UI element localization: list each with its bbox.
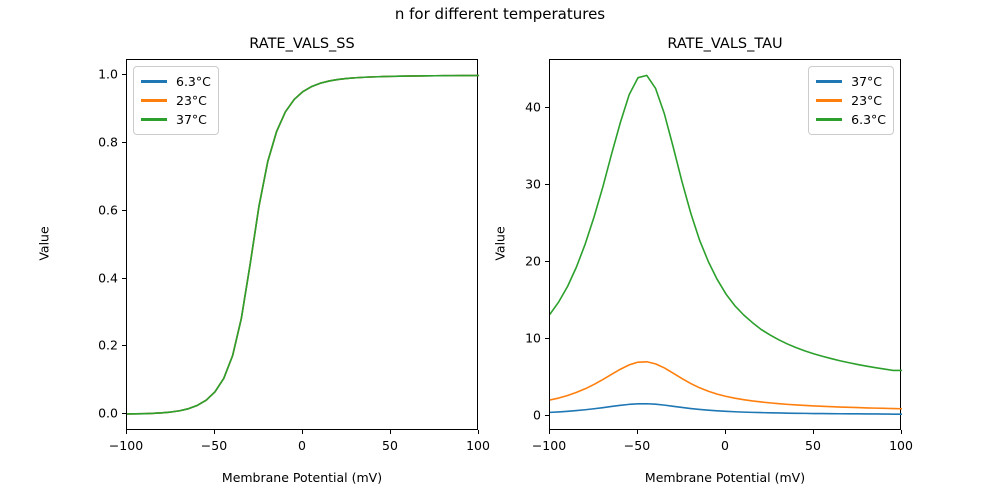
legend-label: 6.3°C [851, 112, 886, 127]
y-tickmark [545, 261, 549, 262]
subplot-rate-vals-tau: RATE_VALS_TAU 37°C23°C6.3°C [549, 59, 901, 430]
y-tick-label: 20 [473, 253, 541, 268]
y-tickmark [122, 210, 126, 211]
legend-swatch-icon [816, 99, 842, 101]
x-tick-label: 50 [350, 438, 430, 453]
x-tick-label: 0 [685, 438, 765, 453]
legend-label: 6.3°C [176, 74, 211, 89]
legend-item: 6.3°C [141, 72, 211, 91]
x-tick-label: 100 [861, 438, 941, 453]
y-tick-label: 40 [473, 99, 541, 114]
series-line-37C [550, 404, 902, 414]
legend-label: 37°C [851, 74, 882, 89]
legend-swatch-icon [816, 80, 842, 82]
legend-item: 37°C [816, 72, 886, 91]
x-tickmark [725, 430, 726, 434]
y-tick-label: 0.0 [50, 406, 118, 421]
y-tickmark [122, 74, 126, 75]
x-tickmark [901, 430, 902, 434]
y-tick-label: 0.2 [50, 338, 118, 353]
x-tickmark [478, 430, 479, 434]
y-tickmark [122, 142, 126, 143]
y-tick-label: 1.0 [50, 67, 118, 82]
x-tick-label: −100 [509, 438, 589, 453]
subplot-rate-vals-ss: RATE_VALS_SS 6.3°C23°C37°C [126, 59, 478, 430]
subplot-title-tau: RATE_VALS_TAU [550, 36, 900, 52]
legend-swatch-icon [141, 99, 167, 101]
y-tick-label: 0.6 [50, 202, 118, 217]
legend-ss[interactable]: 6.3°C23°C37°C [133, 66, 219, 135]
y-tickmark [545, 184, 549, 185]
x-tick-label: −50 [174, 438, 254, 453]
y-tickmark [545, 338, 549, 339]
x-tick-label: 0 [262, 438, 342, 453]
y-tick-label: 0.4 [50, 270, 118, 285]
legend-swatch-icon [141, 80, 167, 82]
legend-item: 6.3°C [816, 110, 886, 129]
legend-tau[interactable]: 37°C23°C6.3°C [808, 66, 894, 135]
legend-swatch-icon [816, 118, 842, 120]
y-tickmark [122, 278, 126, 279]
legend-label: 23°C [851, 93, 882, 108]
x-tick-label: −100 [86, 438, 166, 453]
legend-label: 37°C [176, 112, 207, 127]
subplot-title-ss: RATE_VALS_SS [127, 36, 477, 52]
y-tickmark [545, 415, 549, 416]
ylabel-tau: Value [493, 204, 508, 284]
figure-suptitle: n for different temperatures [0, 5, 1000, 23]
legend-label: 23°C [176, 93, 207, 108]
legend-item: 23°C [141, 91, 211, 110]
series-line-23C [550, 362, 902, 409]
x-tick-label: 50 [773, 438, 853, 453]
x-tick-label: −50 [597, 438, 677, 453]
xlabel-tau: Membrane Potential (mV) [549, 470, 901, 485]
y-tick-label: 0.8 [50, 135, 118, 150]
y-tick-label: 0 [473, 407, 541, 422]
x-tickmark [390, 430, 391, 434]
x-tickmark [549, 430, 550, 434]
figure-canvas: n for different temperatures RATE_VALS_S… [0, 0, 1000, 500]
y-tickmark [545, 107, 549, 108]
x-tickmark [813, 430, 814, 434]
y-tickmark [122, 345, 126, 346]
legend-item: 37°C [141, 110, 211, 129]
y-tickmark [122, 413, 126, 414]
x-tickmark [637, 430, 638, 434]
y-tick-label: 30 [473, 176, 541, 191]
x-tickmark [214, 430, 215, 434]
x-tickmark [126, 430, 127, 434]
legend-swatch-icon [141, 118, 167, 120]
y-tick-label: 10 [473, 330, 541, 345]
legend-item: 23°C [816, 91, 886, 110]
xlabel-ss: Membrane Potential (mV) [126, 470, 478, 485]
x-tickmark [302, 430, 303, 434]
x-tick-label: 100 [438, 438, 518, 453]
